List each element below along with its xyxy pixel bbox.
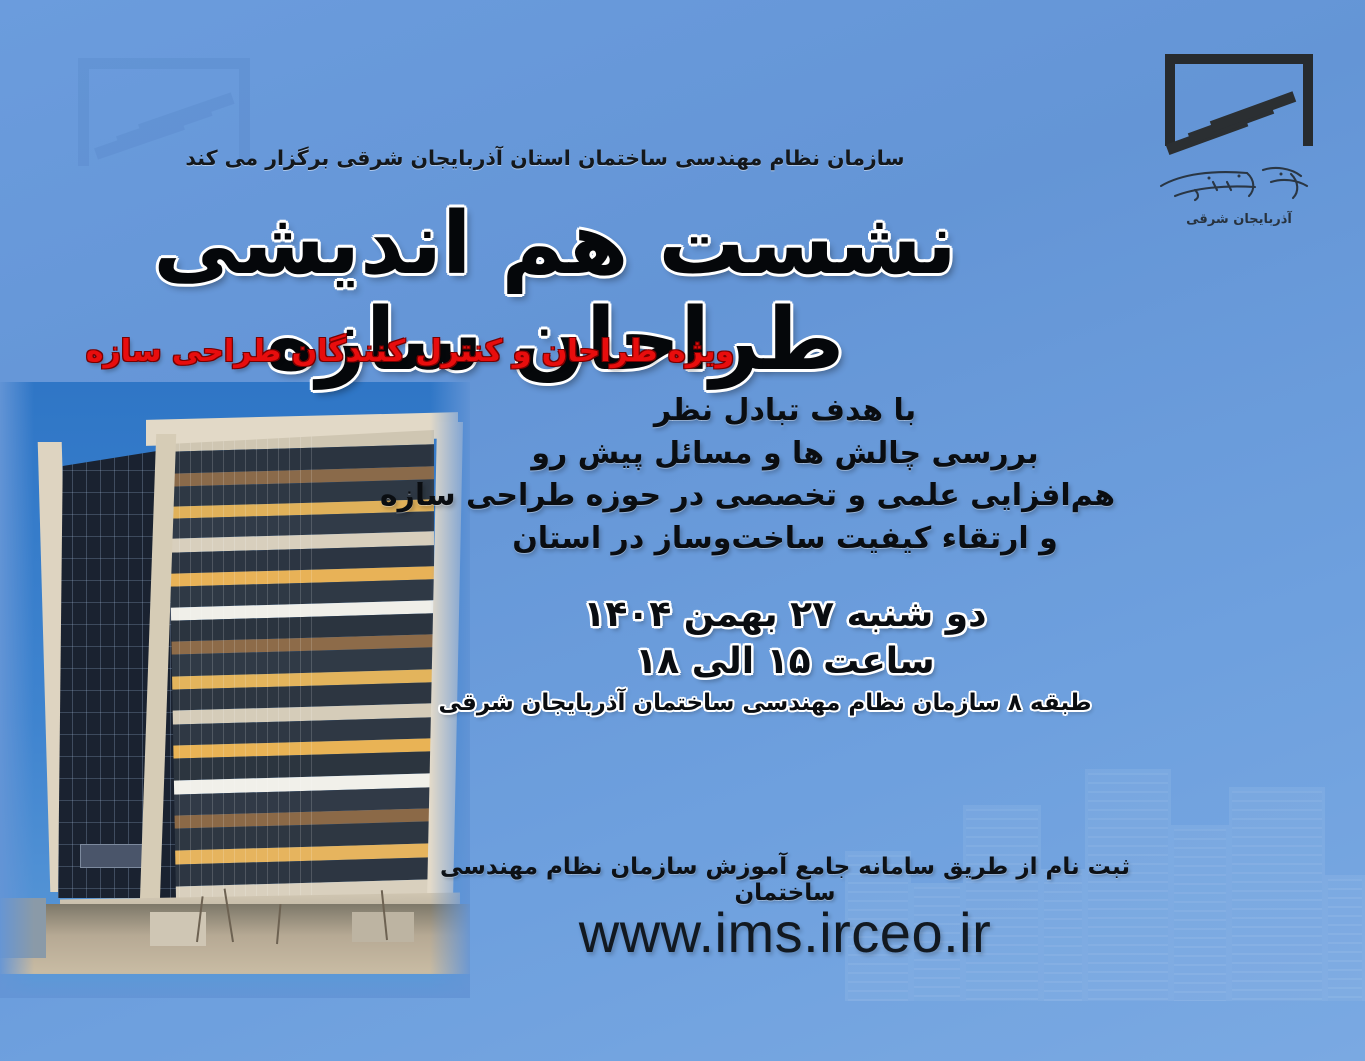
purpose-line-3: هم‌افزایی علمی و تخصصی در حوزه طراحی ساز… [455,475,1115,518]
registration-note: ثبت نام از طریق سامانه جامع آموزش سازمان… [435,854,1135,906]
purpose-line-4: و ارتقاء کیفیت ساخت‌وساز در استان [455,518,1115,561]
logo-province-label: آذربایجان شرقی [1151,212,1327,227]
event-date: دو شنبه ۲۷ بهمن ۱۴۰۴ [455,592,1115,639]
purpose-text-block: با هدف تبادل نظربررسی چالش ها و مسائل پی… [455,390,1115,560]
purpose-line-2: بررسی چالش ها و مسائل پیش رو [455,433,1115,476]
photo-fade-bottom [0,972,470,998]
audience-subtitle: ویژه طراحان و کنترل کنندگان طراحی سازه [0,334,820,369]
logo-watermark [78,58,250,208]
event-time: ساعت ۱۵ الی ۱۸ [455,639,1115,686]
skyline-building-7 [1229,787,1325,1001]
photo-fade-left [0,382,34,998]
host-line: سازمان نظام مهندسی ساختمان استان آذربایج… [0,146,1090,170]
purpose-line-1: با هدف تبادل نظر [455,390,1115,433]
logo-calligraphy [1151,152,1327,214]
band-window-grid [168,430,322,898]
event-venue: طبقه ۸ سازمان نظام مهندسی ساختمان آذربای… [415,690,1115,716]
skyline-building-6 [1171,825,1229,1001]
registration-url[interactable]: www.ims.irceo.ir [435,900,1135,965]
event-datetime-block: دو شنبه ۲۷ بهمن ۱۴۰۴ ساعت ۱۵ الی ۱۸ [455,592,1115,686]
skyline-building-8 [1325,875,1365,1001]
organization-logo: آذربایجان شرقی [1151,48,1327,260]
event-poster: آذربایجان شرقی سازمان نظام مهندسی ساختما… [0,0,1365,1061]
